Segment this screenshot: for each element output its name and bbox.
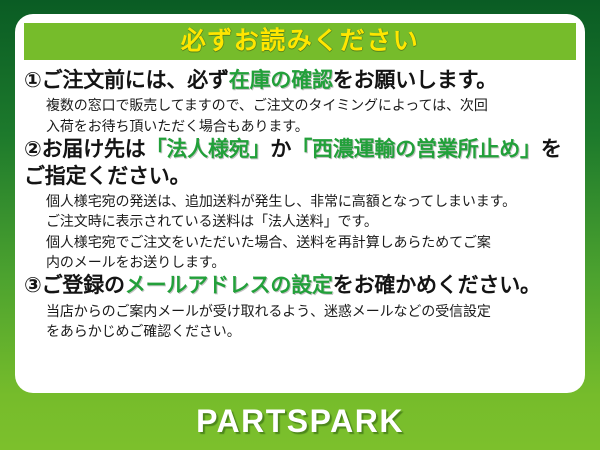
description-line: をあらかじめご確認ください。 bbox=[46, 321, 575, 341]
notice-item-number: ① bbox=[24, 69, 42, 92]
highlighted-text: 「西濃運輸の営業所止め」 bbox=[291, 138, 541, 161]
notice-banner: 必ずお読みください ①ご注文前には、必ず在庫の確認をお願いします。複数の窓口で販… bbox=[0, 0, 600, 450]
highlighted-text: 在庫の確認 bbox=[229, 69, 333, 92]
description-line: 当店からのご案内メールが受け取れるよう、迷惑メールなどの受信設定 bbox=[46, 301, 575, 321]
description-line: ご注文時に表示されている送料は「法人送料」です。 bbox=[46, 211, 575, 231]
heading-text: ご登録の bbox=[42, 274, 125, 297]
notice-item: ③ご登録のメールアドレスの設定をお確かめください。当店からのご案内メールが受け取… bbox=[24, 273, 575, 341]
footer-bar: PARTSPARK bbox=[0, 393, 600, 450]
description-line: 個人様宅宛でご注文をいただいた場合、送料を再計算しあらためてご案 bbox=[46, 232, 575, 252]
notice-item-heading: ③ご登録のメールアドレスの設定をお確かめください。 bbox=[24, 273, 575, 299]
notice-item-number: ③ bbox=[24, 274, 42, 297]
heading-text: お届け先は bbox=[42, 138, 146, 161]
notice-item: ②お届け先は「法人様宛」か「西濃運輸の営業所止め」をご指定ください。個人様宅宛の… bbox=[24, 137, 575, 272]
highlighted-text: 「法人様宛」 bbox=[146, 138, 271, 161]
notice-list: ①ご注文前には、必ず在庫の確認をお願いします。複数の窓口で販売してますので、ご注… bbox=[15, 64, 585, 393]
notice-item: ①ご注文前には、必ず在庫の確認をお願いします。複数の窓口で販売してますので、ご注… bbox=[24, 68, 575, 136]
title-strip: 必ずお読みください bbox=[24, 23, 576, 60]
heading-text: をお願いします。 bbox=[333, 69, 497, 92]
brand-logo-text: PARTSPARK bbox=[196, 403, 404, 440]
description-line: 内のメールをお送りします。 bbox=[46, 252, 575, 272]
notice-item-description: 複数の窓口で販売してますので、ご注文のタイミングによっては、次回入荷をお待ち頂い… bbox=[46, 95, 575, 136]
heading-text: をお確かめください。 bbox=[333, 274, 541, 297]
notice-item-description: 個人様宅宛の発送は、追加送料が発生し、非常に高額となってしまいます。ご注文時に表… bbox=[46, 191, 575, 272]
notice-item-number: ② bbox=[24, 138, 42, 161]
notice-item-heading: ②お届け先は「法人様宛」か「西濃運輸の営業所止め」をご指定ください。 bbox=[24, 137, 575, 190]
banner-title: 必ずお読みください bbox=[181, 29, 420, 54]
notice-item-heading: ①ご注文前には、必ず在庫の確認をお願いします。 bbox=[24, 68, 575, 94]
heading-text: ご注文前には、必ず bbox=[42, 69, 229, 92]
notice-item-description: 当店からのご案内メールが受け取れるよう、迷惑メールなどの受信設定をあらかじめご確… bbox=[46, 301, 575, 342]
heading-text: か bbox=[270, 138, 291, 161]
description-line: 個人様宅宛の発送は、追加送料が発生し、非常に高額となってしまいます。 bbox=[46, 191, 575, 211]
description-line: 複数の窓口で販売してますので、ご注文のタイミングによっては、次回 bbox=[46, 95, 575, 115]
notice-card: 必ずお読みください ①ご注文前には、必ず在庫の確認をお願いします。複数の窓口で販… bbox=[15, 14, 585, 393]
description-line: 入荷をお待ち頂いただく場合もあります。 bbox=[46, 116, 575, 136]
highlighted-text: メールアドレスの設定 bbox=[125, 274, 333, 297]
